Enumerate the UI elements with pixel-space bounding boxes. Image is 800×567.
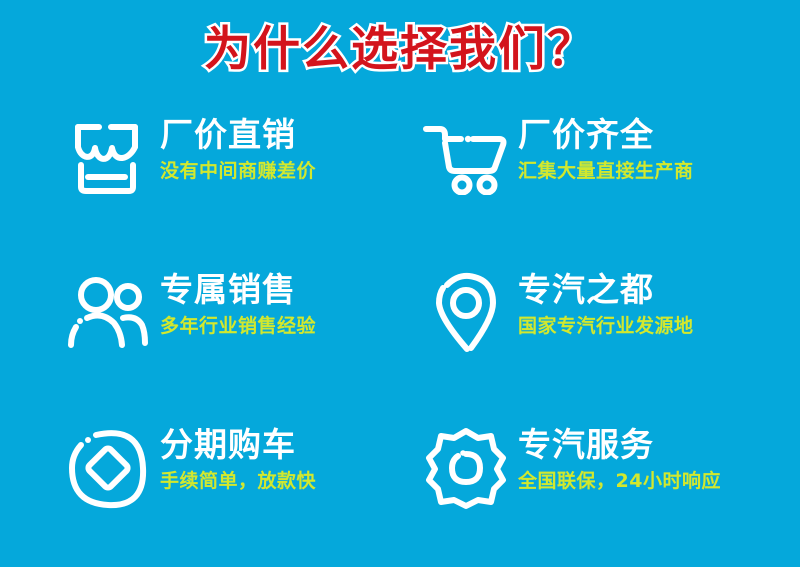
feature-text-block: 专汽服务 全国联保，24小时响应 [518, 420, 721, 493]
storefront-icon [62, 110, 154, 202]
feature-text-block: 厂价直销 没有中间商赚差价 [160, 110, 316, 183]
feature-item-zhuanqi-fuwu: 专汽服务 全国联保，24小时响应 [400, 420, 800, 550]
feature-subtitle: 手续简单，放款快 [160, 469, 316, 493]
feature-subtitle: 多年行业销售经验 [160, 314, 316, 338]
feature-text-block: 专汽之都 国家专汽行业发源地 [518, 265, 694, 338]
promo-banner: 为什么选择我们？ 厂价直销 没有中间商赚差价 [0, 0, 800, 567]
feature-title: 专属销售 [160, 271, 316, 309]
feature-grid: 厂价直销 没有中间商赚差价 厂价齐全 汇集大量直接生产商 [0, 110, 800, 550]
feature-subtitle: 没有中间商赚差价 [160, 159, 316, 183]
feature-title: 专汽服务 [518, 426, 721, 464]
page-title: 为什么选择我们？ [204, 22, 596, 78]
feature-item-changjia-zhixiao: 厂价直销 没有中间商赚差价 [0, 110, 400, 265]
gear-icon [420, 422, 512, 514]
feature-item-changjia-qiquan: 厂价齐全 汇集大量直接生产商 [400, 110, 800, 265]
feature-item-fenqi-gouche: 分期购车 手续简单，放款快 [0, 420, 400, 550]
headline-container: 为什么选择我们？ [0, 22, 800, 78]
circle-diamond-icon [62, 422, 154, 514]
feature-text-block: 厂价齐全 汇集大量直接生产商 [518, 110, 694, 183]
feature-text-block: 专属销售 多年行业销售经验 [160, 265, 316, 338]
feature-subtitle: 全国联保，24小时响应 [518, 469, 721, 493]
feature-title: 专汽之都 [518, 271, 694, 309]
feature-item-zhuanshu-xiaoshou: 专属销售 多年行业销售经验 [0, 265, 400, 420]
feature-subtitle: 国家专汽行业发源地 [518, 314, 694, 338]
feature-text-block: 分期购车 手续简单，放款快 [160, 420, 316, 493]
shopping-cart-icon [420, 110, 512, 202]
feature-title: 厂价直销 [160, 116, 316, 154]
feature-title: 分期购车 [160, 426, 316, 464]
feature-title: 厂价齐全 [518, 116, 694, 154]
two-people-icon [62, 267, 154, 359]
feature-subtitle: 汇集大量直接生产商 [518, 159, 694, 183]
location-pin-icon [420, 267, 512, 359]
feature-item-zhuanqi-zhidu: 专汽之都 国家专汽行业发源地 [400, 265, 800, 420]
